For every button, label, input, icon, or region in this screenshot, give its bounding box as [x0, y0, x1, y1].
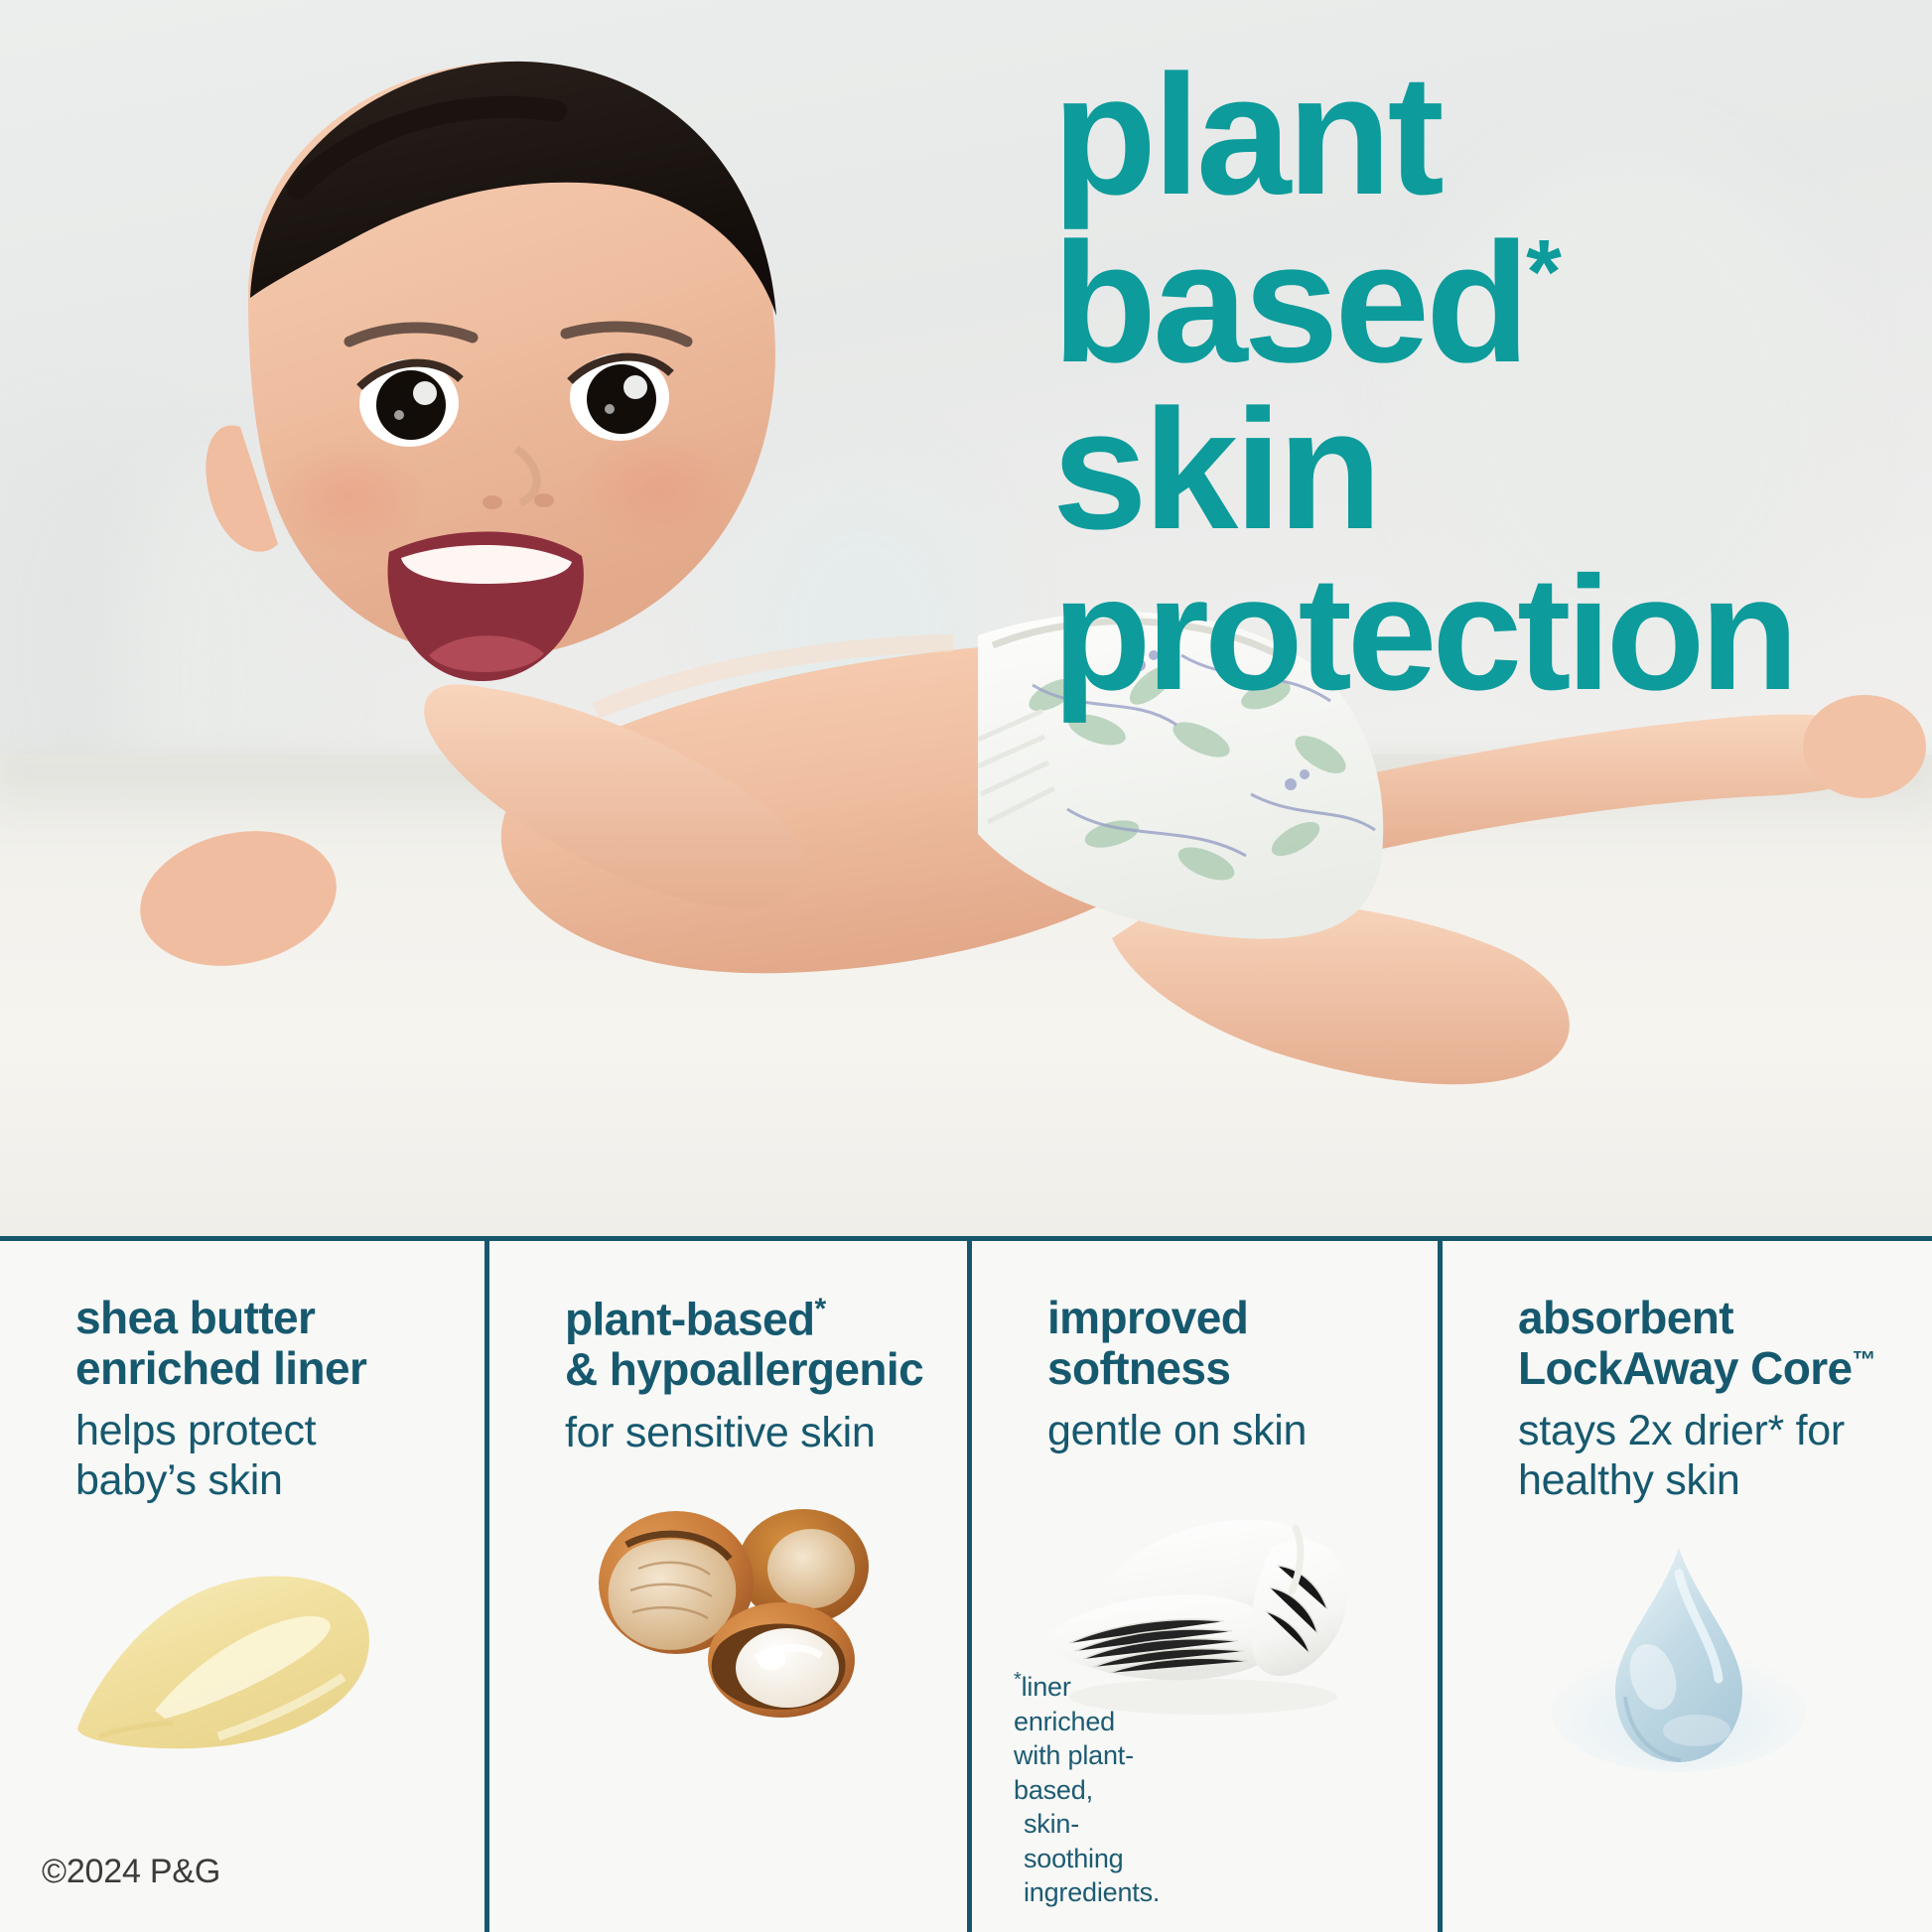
headline-line-2: based*: [1052, 219, 1926, 387]
feature-title: plant-based* & hypoallergenic: [565, 1293, 933, 1395]
headline-line-1: plant: [1052, 52, 1926, 219]
feature-panel-plant-based: plant-based* & hypoallergenic for sensit…: [484, 1241, 967, 1932]
feature-title-line-1: shea butter: [75, 1292, 315, 1343]
feature-art: [1476, 1516, 1898, 1932]
baby-hand: [127, 814, 348, 984]
feature-title-line-1: plant-based: [565, 1293, 815, 1344]
headline-asterisk: *: [1526, 221, 1562, 323]
feature-title: absorbent LockAway Core™: [1518, 1293, 1898, 1393]
feature-subtitle-line-1: for sensitive skin: [565, 1409, 875, 1456]
hero-photo: plant based* skin protection: [0, 0, 1932, 1236]
baby-mouth: [388, 531, 584, 681]
copyright-notice: ©2024 P&G: [42, 1851, 220, 1894]
feature-art: [1006, 1466, 1404, 1932]
feature-panel-softness: improved softness gentle on skin: [967, 1241, 1438, 1932]
feature-title: improved softness: [1047, 1293, 1404, 1393]
feature-subtitle-line-1: stays 2x drier* for: [1518, 1407, 1845, 1454]
feature-title-line-1: absorbent: [1518, 1292, 1733, 1343]
headline-line-4: protection: [1052, 554, 1926, 713]
feature-subtitle-line-1: gentle on skin: [1047, 1407, 1307, 1454]
headline: plant based* skin protection: [1052, 52, 1926, 712]
feature-strip: shea butter enriched liner helps protect…: [0, 1236, 1932, 1932]
water-droplet-icon: [1530, 1526, 1828, 1784]
feather-icon: [1030, 1488, 1367, 1722]
feature-subtitle-line-2: healthy skin: [1518, 1456, 1739, 1504]
feature-title-line-2: enriched liner: [75, 1342, 366, 1394]
feature-title-line-2: & hypoallergenic: [565, 1343, 923, 1395]
feature-panel-shea-butter: shea butter enriched liner helps protect…: [0, 1241, 484, 1932]
baby-head: [206, 62, 776, 681]
feature-art: [523, 1467, 933, 1932]
headline-line-3: skin: [1052, 386, 1926, 554]
feature-title: shea butter enriched liner: [75, 1293, 451, 1393]
feature-title-line-2: LockAway Core: [1518, 1342, 1852, 1394]
feature-subtitle-line-2: baby’s skin: [75, 1456, 283, 1504]
feature-subtitle-line-1: helps protect: [75, 1407, 316, 1454]
shea-butter-swatch-icon: [69, 1560, 377, 1758]
ad-creative: plant based* skin protection shea butter…: [0, 0, 1932, 1932]
feature-panel-lockaway-core: absorbent LockAway Core™ stays 2x drier*…: [1438, 1241, 1932, 1932]
feature-title-asterisk: *: [815, 1293, 826, 1325]
shea-nuts-icon: [561, 1493, 889, 1722]
feature-title-line-1: improved: [1047, 1292, 1248, 1343]
feature-title-line-2: softness: [1047, 1342, 1230, 1394]
feature-subtitle: gentle on skin: [1047, 1407, 1404, 1456]
feature-subtitle: for sensitive skin: [565, 1409, 933, 1458]
trademark-symbol: ™: [1852, 1346, 1874, 1373]
feature-subtitle: helps protect baby’s skin: [75, 1407, 451, 1506]
feature-subtitle: stays 2x drier* for healthy skin: [1518, 1407, 1898, 1506]
